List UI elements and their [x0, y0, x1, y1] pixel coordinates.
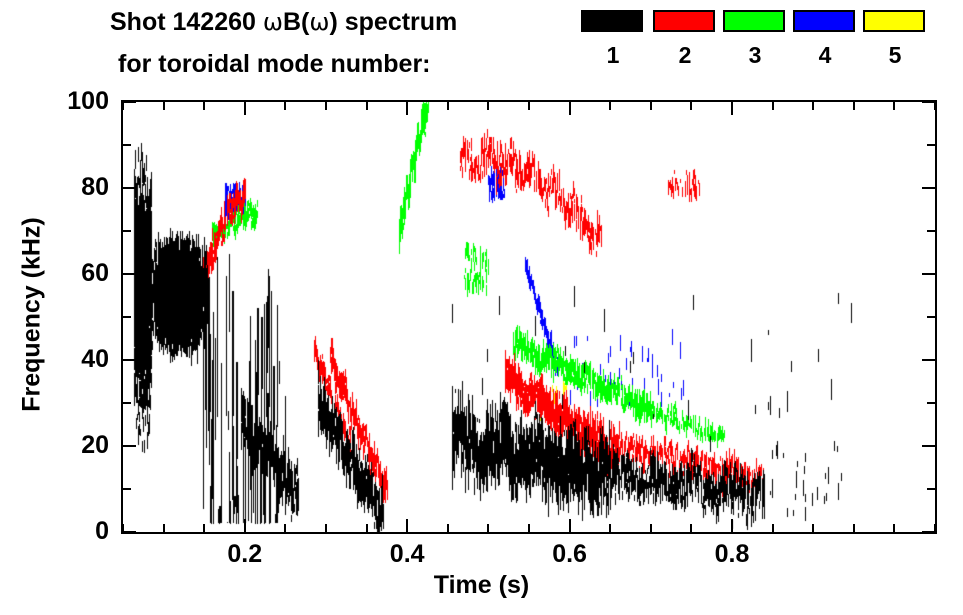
x-tick — [731, 519, 733, 532]
x-tick — [569, 102, 571, 115]
legend-item-2: 2 — [653, 10, 717, 67]
x-tick — [812, 524, 814, 532]
x-tick — [731, 102, 733, 115]
x-tick — [203, 102, 205, 110]
legend-label-3: 3 — [723, 44, 787, 67]
legend-swatch-3 — [723, 10, 785, 32]
x-tick — [203, 524, 205, 532]
x-tick — [853, 524, 855, 532]
y-tick — [927, 402, 935, 404]
x-tick — [122, 102, 124, 110]
omega-symbol-1: ω — [263, 8, 283, 36]
y-tick — [123, 230, 131, 232]
y-tick — [922, 445, 935, 447]
x-tick — [244, 102, 246, 115]
x-tick-label-0.4: 0.4 — [362, 542, 452, 567]
x-tick — [447, 102, 449, 110]
legend-item-1: 1 — [581, 10, 645, 67]
y-tick — [123, 445, 136, 447]
legend-label-4: 4 — [793, 44, 857, 67]
y-tick — [922, 273, 935, 275]
x-tick — [650, 102, 652, 110]
legend-item-3: 3 — [723, 10, 787, 67]
x-tick — [325, 524, 327, 532]
x-tick — [366, 102, 368, 110]
legend-swatch-5 — [863, 10, 925, 32]
x-tick — [853, 102, 855, 110]
x-tick — [487, 102, 489, 110]
x-tick — [812, 102, 814, 110]
y-axis-title: Frequency (kHz) — [18, 165, 47, 465]
figure-title-line-2: for toroidal mode number: — [118, 50, 431, 79]
x-tick — [690, 524, 692, 532]
legend-item-5: 5 — [863, 10, 927, 67]
legend-swatch-4 — [793, 10, 855, 32]
y-tick — [922, 101, 935, 103]
title-suffix: ) spectrum — [329, 8, 457, 36]
legend-label-2: 2 — [653, 44, 717, 67]
x-tick — [772, 102, 774, 110]
legend-swatch-2 — [653, 10, 715, 32]
x-tick — [528, 102, 530, 110]
legend-item-4: 4 — [793, 10, 857, 67]
x-tick — [163, 524, 165, 532]
x-tick — [528, 524, 530, 532]
title-prefix: Shot 142260 — [110, 8, 263, 36]
x-tick-label-0.8: 0.8 — [687, 542, 777, 567]
legend-swatch-1 — [581, 10, 643, 32]
legend-label-5: 5 — [863, 44, 927, 67]
x-tick — [487, 524, 489, 532]
x-tick — [609, 524, 611, 532]
plot-area — [121, 100, 937, 534]
x-tick-label-0.2: 0.2 — [200, 542, 290, 567]
x-tick — [163, 102, 165, 110]
x-tick — [244, 519, 246, 532]
x-tick — [772, 524, 774, 532]
x-tick — [934, 102, 936, 110]
x-tick — [893, 524, 895, 532]
y-tick — [123, 488, 131, 490]
y-tick — [123, 402, 131, 404]
y-tick — [123, 187, 136, 189]
title-mid: B( — [283, 8, 309, 36]
y-tick — [927, 144, 935, 146]
x-tick — [893, 102, 895, 110]
figure-title-line-1: Shot 142260 ωB(ω) spectrum — [110, 8, 457, 37]
x-tick — [325, 102, 327, 110]
x-tick-label-0.6: 0.6 — [525, 542, 615, 567]
y-tick-label-100: 100 — [29, 89, 109, 114]
y-tick — [123, 101, 136, 103]
y-tick — [927, 230, 935, 232]
y-tick — [123, 144, 131, 146]
x-tick — [284, 102, 286, 110]
y-tick — [123, 316, 131, 318]
x-tick — [569, 519, 571, 532]
y-tick — [922, 187, 935, 189]
x-tick — [650, 524, 652, 532]
y-tick — [123, 531, 136, 533]
y-tick — [123, 273, 136, 275]
y-tick — [927, 316, 935, 318]
y-tick — [922, 359, 935, 361]
x-tick — [284, 524, 286, 532]
y-tick — [927, 488, 935, 490]
x-tick — [366, 524, 368, 532]
spectrogram-canvas — [123, 102, 935, 532]
x-tick — [447, 524, 449, 532]
x-axis-title: Time (s) — [0, 571, 963, 600]
legend: 12345 — [575, 10, 935, 90]
y-tick-label-0: 0 — [29, 519, 109, 544]
figure-root: Shot 142260 ωB(ω) spectrum for toroidal … — [0, 0, 963, 615]
y-tick — [922, 531, 935, 533]
x-tick — [609, 102, 611, 110]
legend-label-1: 1 — [581, 44, 645, 67]
x-tick — [690, 102, 692, 110]
x-tick — [406, 519, 408, 532]
omega-symbol-2: ω — [309, 8, 329, 36]
x-tick — [406, 102, 408, 115]
y-tick — [123, 359, 136, 361]
